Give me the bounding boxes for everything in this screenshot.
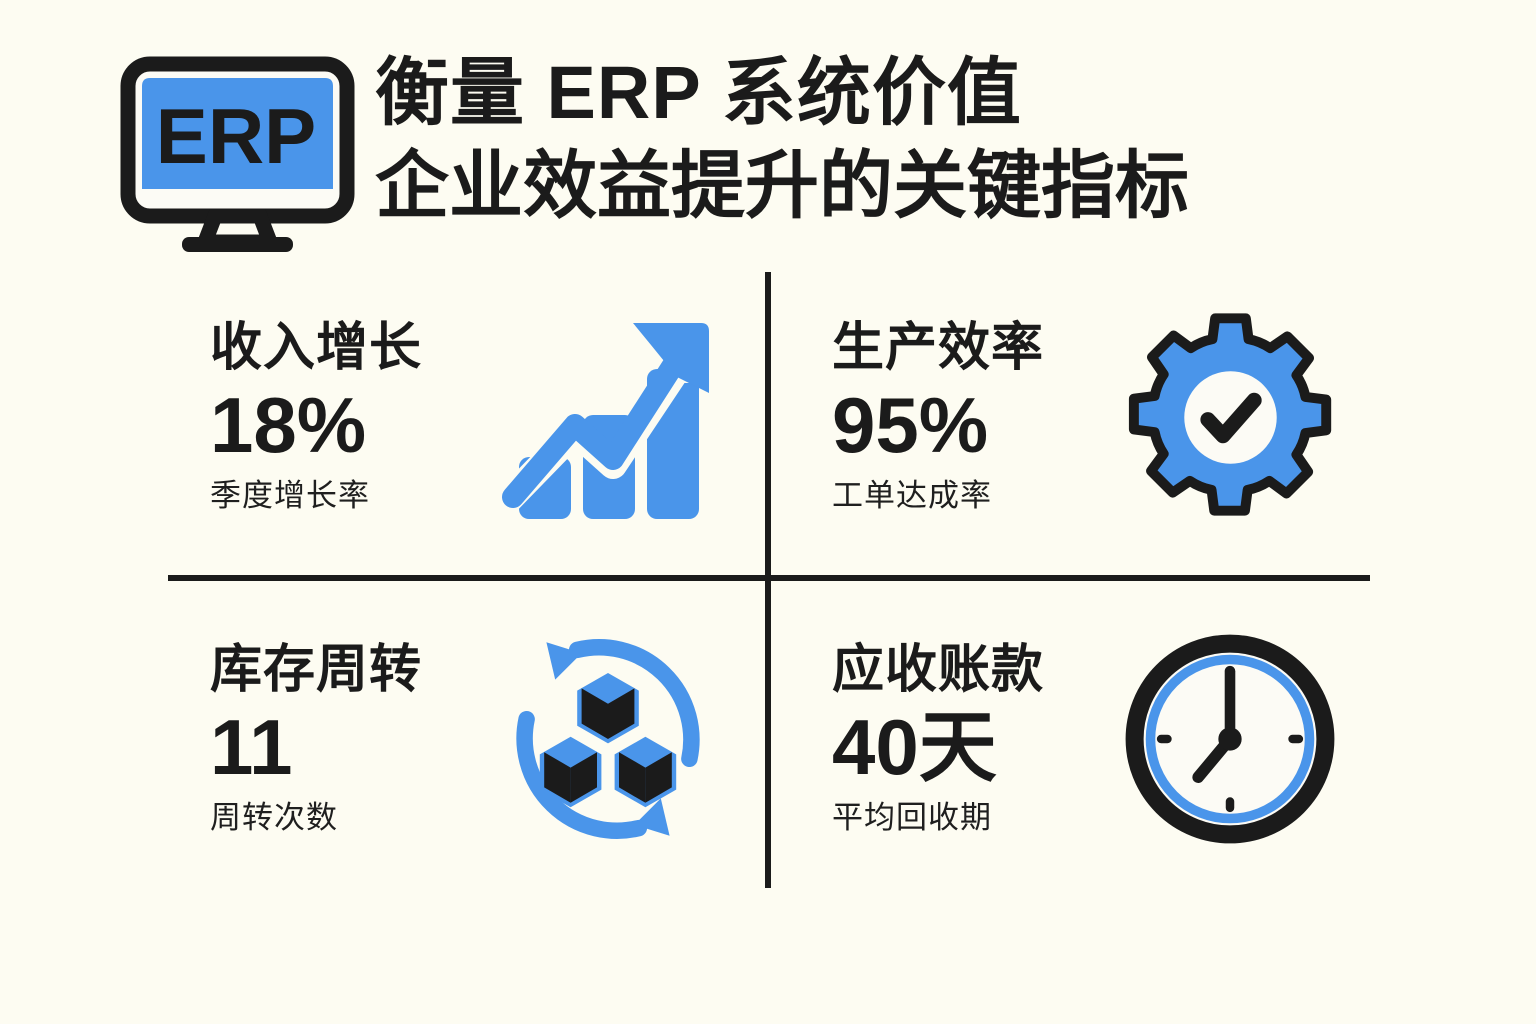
clock-center-pin (1218, 727, 1241, 750)
erp-logo: ERP (120, 40, 365, 255)
page-title-line1: 衡量 ERP 系统价值 (375, 50, 1410, 135)
clock-icon (1124, 633, 1336, 845)
metric-card-accounts-receivable: 应收账款 40天 平均回收期 (790, 594, 1370, 884)
clock-tick-icon (1288, 735, 1303, 743)
title-block: 衡量 ERP 系统价值 企业效益提升的关键指标 (365, 40, 1410, 228)
metric-title: 收入增长 (210, 321, 468, 376)
metric-text-block: 生产效率 95% 工单达成率 (790, 321, 1090, 514)
infographic-canvas: ERP 衡量 ERP 系统价值 企业效益提升的关键指标 收入增长 18% 季度增… (0, 0, 1536, 1024)
metric-value: 18% (210, 385, 468, 467)
metric-text-block: 收入增长 18% 季度增长率 (168, 321, 468, 514)
grid-divider-horizontal (168, 575, 1370, 581)
metric-sublabel: 平均回收期 (832, 801, 1090, 835)
monitor-icon: ERP (120, 56, 355, 256)
erp-logo-text: ERP (156, 92, 316, 180)
metric-text-block: 库存周转 11 周转次数 (168, 643, 468, 836)
metric-value: 40天 (832, 707, 1090, 789)
metric-title: 应收账款 (832, 643, 1090, 698)
metric-icon-slot (468, 624, 748, 854)
metric-value: 11 (210, 707, 468, 789)
metric-grid: 收入增长 18% 季度增长率 (168, 272, 1370, 888)
metric-sublabel: 周转次数 (210, 801, 468, 835)
metric-card-revenue-growth: 收入增长 18% 季度增长率 (168, 272, 748, 562)
metric-value: 95% (832, 385, 1090, 467)
metric-sublabel: 季度增长率 (210, 479, 468, 513)
gear-check-icon (1123, 310, 1338, 525)
growth-chart-icon (501, 307, 716, 527)
header: ERP 衡量 ERP 系统价值 企业效益提升的关键指标 (120, 40, 1410, 270)
clock-tick-icon (1157, 735, 1172, 743)
metric-icon-slot (1090, 624, 1370, 854)
inventory-cycle-icon (498, 629, 718, 849)
metric-sublabel: 工单达成率 (832, 479, 1090, 513)
metric-icon-slot (468, 302, 748, 532)
page-title-line2: 企业效益提升的关键指标 (375, 143, 1410, 228)
metric-title: 生产效率 (832, 321, 1090, 376)
metric-card-production-efficiency: 生产效率 95% 工单达成率 (790, 272, 1370, 562)
metric-title: 库存周转 (210, 643, 468, 698)
metric-card-inventory-turnover: 库存周转 11 周转次数 (168, 594, 748, 884)
clock-tick-icon (1226, 797, 1234, 812)
metric-icon-slot (1090, 302, 1370, 532)
metric-text-block: 应收账款 40天 平均回收期 (790, 643, 1090, 836)
